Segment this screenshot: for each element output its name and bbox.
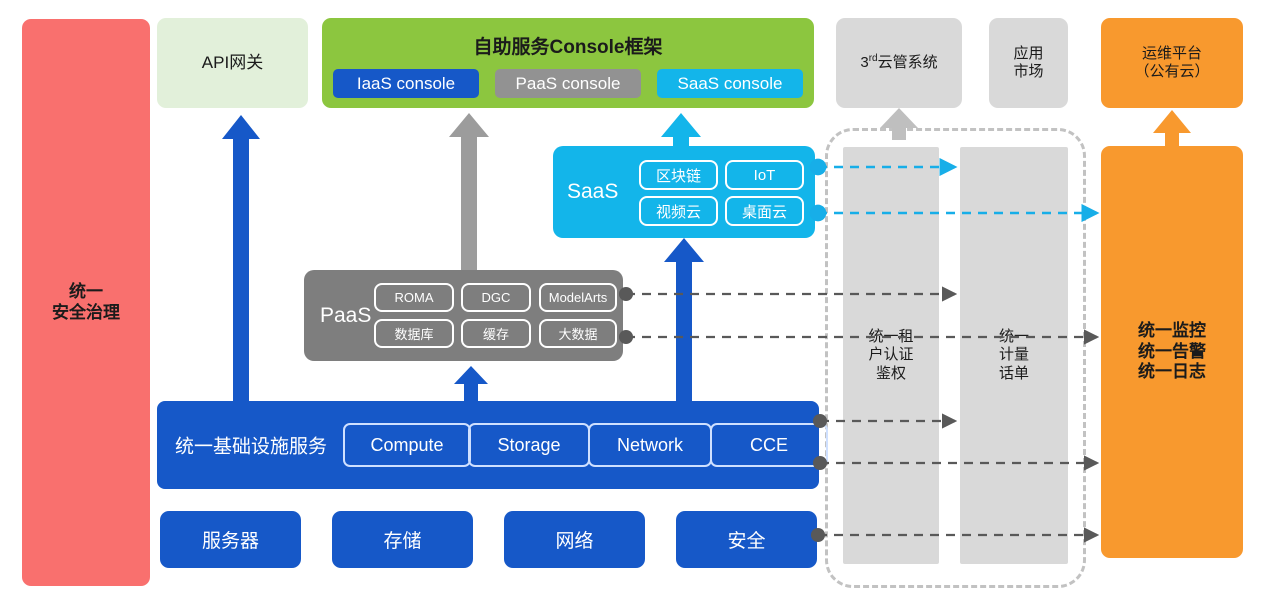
resource-block-storage-label: 存储 xyxy=(383,526,421,553)
ops-platform-label: 运维平台 （公有云） xyxy=(1134,45,1209,82)
third-party-cloud-mgmt-card: 3rd云管系统 xyxy=(836,18,962,108)
paas-item-dgc-label: DGC xyxy=(482,290,511,305)
unified-tenant-auth-column: 统一租 户认证 鉴权 xyxy=(843,147,939,564)
paas-item-dgc[interactable]: DGC xyxy=(461,283,531,312)
infra-item-storage-label: Storage xyxy=(497,435,560,456)
app-market-card: 应用 市场 xyxy=(989,18,1068,108)
arrow-infra-to-paas xyxy=(454,366,488,401)
resource-block-security-label: 安全 xyxy=(727,526,765,553)
resource-block-network: 网络 xyxy=(504,511,645,568)
saas-item-blockchain[interactable]: 区块链 xyxy=(639,160,718,190)
unified-tenant-auth-label: 统一租 户认证 鉴权 xyxy=(868,328,913,383)
iaas-console-label: IaaS console xyxy=(357,74,455,94)
infra-item-cce[interactable]: CCE xyxy=(710,423,828,467)
paas-item-bigdata-label: 大数据 xyxy=(558,324,597,343)
arrow-saas-to-console xyxy=(661,113,701,146)
infra-item-compute[interactable]: Compute xyxy=(343,423,471,467)
third-party-prefix: 3 xyxy=(860,54,868,71)
iaas-console-chip[interactable]: IaaS console xyxy=(333,69,479,98)
resource-block-server: 服务器 xyxy=(160,511,301,568)
paas-item-modelarts-label: ModelArts xyxy=(549,290,608,305)
infra-item-storage[interactable]: Storage xyxy=(468,423,590,467)
api-gateway-label: API网关 xyxy=(202,53,263,74)
resource-block-security: 安全 xyxy=(676,511,817,568)
third-party-rest: 云管系统 xyxy=(878,54,938,71)
arrow-ops-column-to-ops-platform xyxy=(1153,110,1191,146)
infra-item-network[interactable]: Network xyxy=(588,423,712,467)
paas-item-modelarts[interactable]: ModelArts xyxy=(539,283,617,312)
resource-block-storage: 存储 xyxy=(332,511,473,568)
paas-item-cache[interactable]: 缓存 xyxy=(461,319,531,348)
paas-layer: PaaS ROMA DGC ModelArts 数据库 缓存 大数据 xyxy=(304,270,623,361)
infra-item-compute-label: Compute xyxy=(370,435,443,456)
infra-item-network-label: Network xyxy=(617,435,683,456)
third-party-superscript: rd xyxy=(869,53,878,64)
saas-layer-name: SaaS xyxy=(567,180,618,204)
paas-item-database-label: 数据库 xyxy=(394,324,433,343)
resource-block-server-label: 服务器 xyxy=(202,526,259,553)
arrow-infra-to-saas xyxy=(664,238,704,401)
security-governance-column: 统一 安全治理 xyxy=(22,19,150,586)
resource-block-network-label: 网络 xyxy=(555,526,593,553)
saas-console-chip[interactable]: SaaS console xyxy=(657,69,803,98)
paas-item-bigdata[interactable]: 大数据 xyxy=(539,319,617,348)
ops-monitoring-column: 统一监控 统一告警 统一日志 xyxy=(1101,146,1243,558)
saas-layer: SaaS 区块链 IoT 视频云 桌面云 xyxy=(553,146,815,238)
arrow-paas-to-console xyxy=(449,113,489,270)
ops-monitoring-label: 统一监控 统一告警 统一日志 xyxy=(1138,321,1206,383)
unified-metering-column: 统一 计量 话单 xyxy=(960,147,1068,564)
saas-item-video-cloud[interactable]: 视频云 xyxy=(639,196,718,226)
console-frame-title: 自助服务Console框架 xyxy=(322,32,814,59)
unified-infrastructure-name: 统一基础设施服务 xyxy=(175,432,327,459)
saas-item-iot-label: IoT xyxy=(754,167,776,184)
saas-item-video-cloud-label: 视频云 xyxy=(656,201,701,222)
security-governance-label: 统一 安全治理 xyxy=(52,282,120,323)
third-party-cloud-mgmt-label: 3rd云管系统 xyxy=(860,53,937,72)
app-market-label: 应用 市场 xyxy=(1013,45,1043,82)
architecture-diagram: 统一 安全治理 API网关 自助服务Console框架 IaaS console… xyxy=(0,0,1265,605)
paas-console-label: PaaS console xyxy=(516,74,621,94)
paas-item-database[interactable]: 数据库 xyxy=(374,319,454,348)
paas-item-cache-label: 缓存 xyxy=(483,324,509,343)
saas-item-iot[interactable]: IoT xyxy=(725,160,804,190)
paas-item-roma-label: ROMA xyxy=(395,290,434,305)
self-service-console-frame: 自助服务Console框架 IaaS console PaaS console … xyxy=(322,18,814,108)
api-gateway-card: API网关 xyxy=(157,18,308,108)
paas-layer-name: PaaS xyxy=(320,304,371,328)
unified-metering-label: 统一 计量 话单 xyxy=(999,328,1029,383)
unified-infrastructure-bar: 统一基础设施服务 Compute Storage Network CCE xyxy=(157,401,819,489)
paas-console-chip[interactable]: PaaS console xyxy=(495,69,641,98)
infra-item-cce-label: CCE xyxy=(750,435,788,456)
arrow-infra-to-api-gateway xyxy=(222,115,260,401)
saas-item-blockchain-label: 区块链 xyxy=(656,165,701,186)
saas-item-desktop-cloud[interactable]: 桌面云 xyxy=(725,196,804,226)
paas-item-roma[interactable]: ROMA xyxy=(374,283,454,312)
ops-platform-card: 运维平台 （公有云） xyxy=(1101,18,1243,108)
saas-item-desktop-cloud-label: 桌面云 xyxy=(742,201,787,222)
saas-console-label: SaaS console xyxy=(678,74,783,94)
